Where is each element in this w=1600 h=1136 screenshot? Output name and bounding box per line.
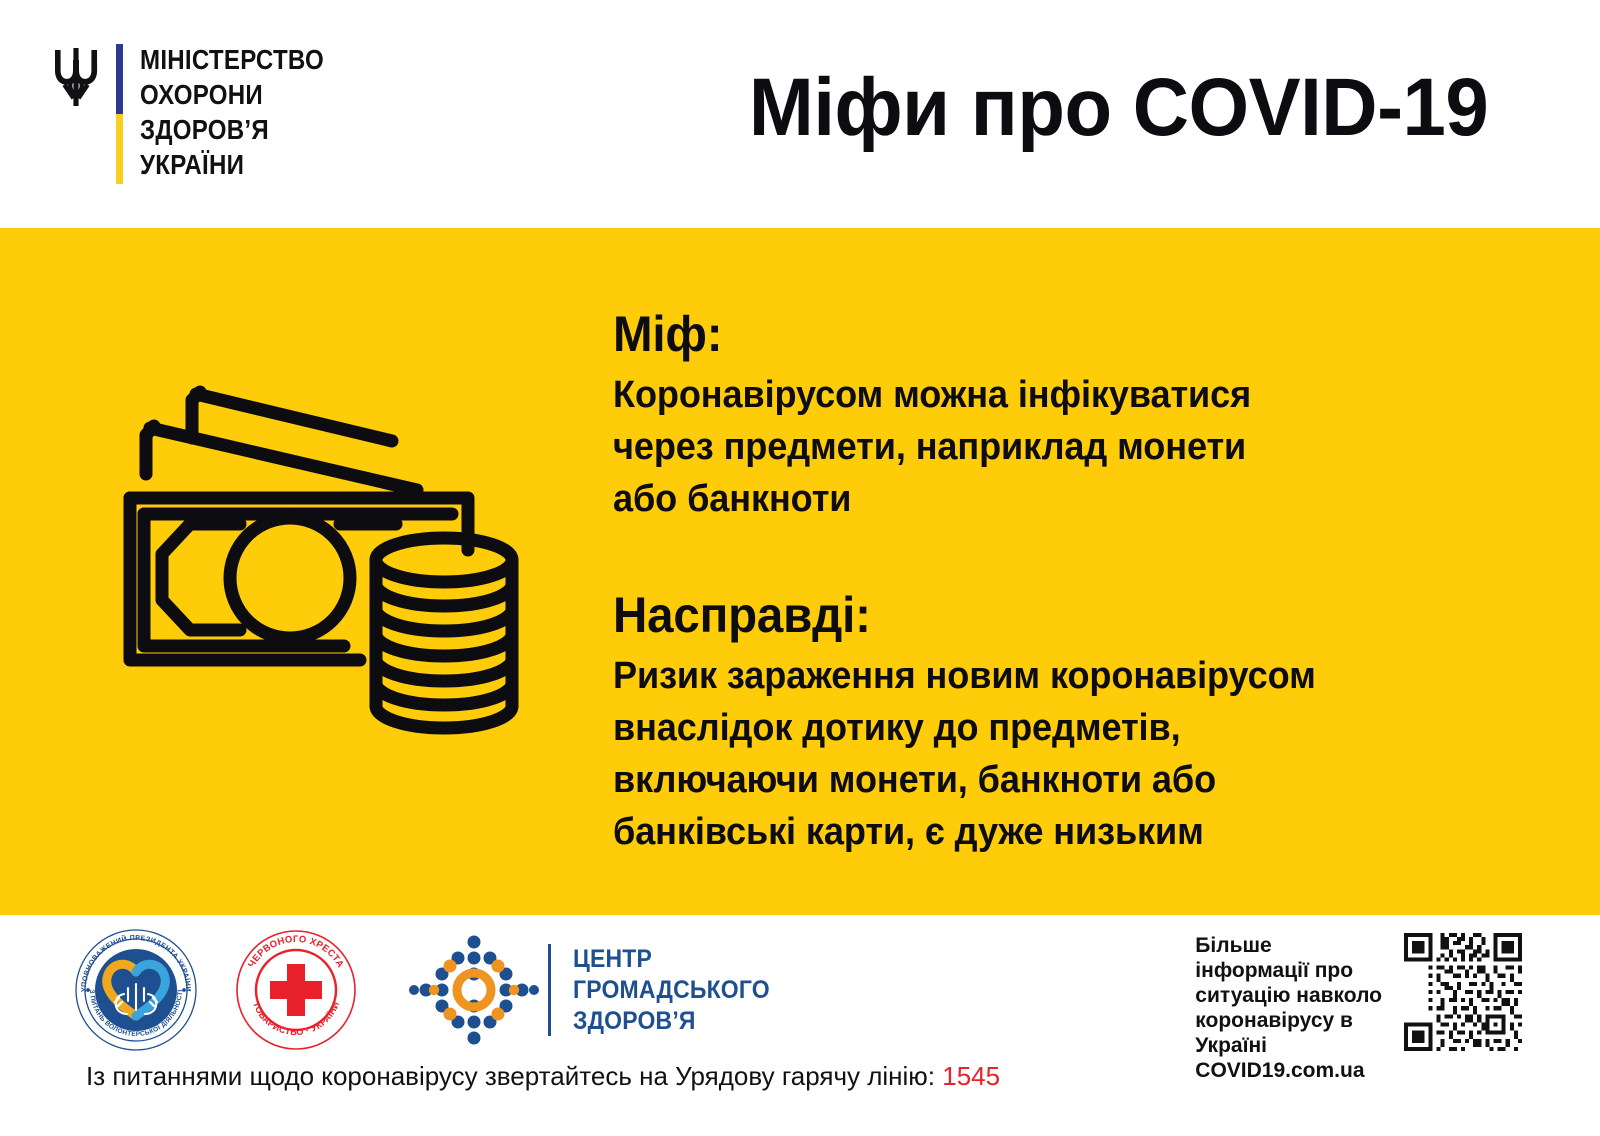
- ministry-line-2: ОХОРОНИ: [140, 77, 324, 112]
- flag-divider-bar: [116, 44, 123, 184]
- banknotes-and-coins-icon: [112, 338, 552, 768]
- fact-heading: Насправді:: [613, 587, 1487, 643]
- ukrainian-trident-icon: [52, 46, 100, 108]
- page-title: Міфи про COVID-19: [749, 62, 1488, 154]
- fact-line-3: включаючи монети, банкноти або: [613, 754, 1487, 806]
- chc-line-3: ЗДОРОВ’Я: [573, 1006, 770, 1037]
- more-info-line-2: інформації про: [1195, 958, 1382, 983]
- more-info-line-3: ситуацію навколо: [1195, 983, 1382, 1008]
- chc-line-1: ЦЕНТР: [573, 944, 770, 975]
- fact-body: Ризик зараження новим коронавірусом внас…: [613, 650, 1533, 858]
- hotline-text: Із питаннями щодо коронавірусу звертайте…: [86, 1061, 942, 1091]
- myth-section: Міф: Коронавірусом можна інфікуватися че…: [613, 306, 1533, 525]
- public-health-center-logo: ЦЕНТР ГРОМАДСЬКОГО ЗДОРОВ’Я: [408, 930, 787, 1050]
- ministry-line-3: ЗДОРОВ’Я: [140, 112, 324, 147]
- hotline-notice: Із питаннями щодо коронавірусу звертайте…: [86, 1060, 1000, 1092]
- more-info-text: Більше інформації про ситуацію навколо к…: [1195, 933, 1382, 1083]
- chc-divider: [548, 944, 551, 1036]
- ministry-name: МІНІСТЕРСТВО ОХОРОНИ ЗДОРОВ’Я УКРАЇНИ: [140, 42, 354, 182]
- hotline-number: 1545: [942, 1061, 1000, 1091]
- myth-line-1: Коронавірусом можна інфікуватися: [613, 369, 1487, 421]
- myth-line-3: або банкноти: [613, 473, 1487, 525]
- ministry-logo: МІНІСТЕРСТВО ОХОРОНИ ЗДОРОВ’Я УКРАЇНИ: [52, 40, 354, 190]
- more-info-line-4: коронавірусу в: [1195, 1008, 1382, 1033]
- myth-fact-content: Міф: Коронавірусом можна інфікуватися че…: [613, 306, 1533, 858]
- partner-logos: УПОВНОВАЖЕНИЙ ПРЕЗИДЕНТА УКРАЇНИ З ПИТАН…: [74, 928, 787, 1052]
- chc-line-2: ГРОМАДСЬКОГО: [573, 975, 770, 1006]
- fact-section: Насправді: Ризик зараження новим коронав…: [613, 587, 1533, 858]
- myth-line-2: через предмети, наприклад монети: [613, 421, 1487, 473]
- myth-body: Коронавірусом можна інфікуватися через п…: [613, 369, 1533, 525]
- content-band: Міф: Коронавірусом можна інфікуватися че…: [0, 228, 1600, 915]
- chc-name: ЦЕНТР ГРОМАДСЬКОГО ЗДОРОВ’Я: [573, 944, 787, 1037]
- more-info-line-6: COVID19.com.ua: [1195, 1058, 1382, 1083]
- fact-line-1: Ризик зараження новим коронавірусом: [613, 650, 1487, 702]
- qr-code[interactable]: [1404, 933, 1522, 1051]
- header: МІНІСТЕРСТВО ОХОРОНИ ЗДОРОВ’Я УКРАЇНИ Мі…: [0, 0, 1600, 228]
- ministry-line-4: УКРАЇНИ: [140, 147, 324, 182]
- footer: УПОВНОВАЖЕНИЙ ПРЕЗИДЕНТА УКРАЇНИ З ПИТАН…: [0, 915, 1600, 1136]
- ministry-line-1: МІНІСТЕРСТВО: [140, 42, 324, 77]
- fact-line-2: внаслідок дотику до предметів,: [613, 702, 1487, 754]
- presidential-volunteer-commissioner-seal: УПОВНОВАЖЕНИЙ ПРЕЗИДЕНТА УКРАЇНИ З ПИТАН…: [74, 928, 198, 1052]
- ukrainian-red-cross-seal: ЧЕРВОНОГО ХРЕСТА ТОВАРИСТВО · УКРАЇНИ: [234, 928, 358, 1052]
- fact-line-4: банківські карти, є дуже низьким: [613, 806, 1487, 858]
- infographic-poster: МІНІСТЕРСТВО ОХОРОНИ ЗДОРОВ’Я УКРАЇНИ Мі…: [0, 0, 1600, 1136]
- more-info-line-1: Більше: [1195, 933, 1382, 958]
- more-info-block: Більше інформації про ситуацію навколо к…: [1195, 933, 1522, 1083]
- public-health-center-dots-icon: [408, 930, 540, 1050]
- myth-heading: Міф:: [613, 306, 1487, 362]
- more-info-line-5: Україні: [1195, 1033, 1382, 1058]
